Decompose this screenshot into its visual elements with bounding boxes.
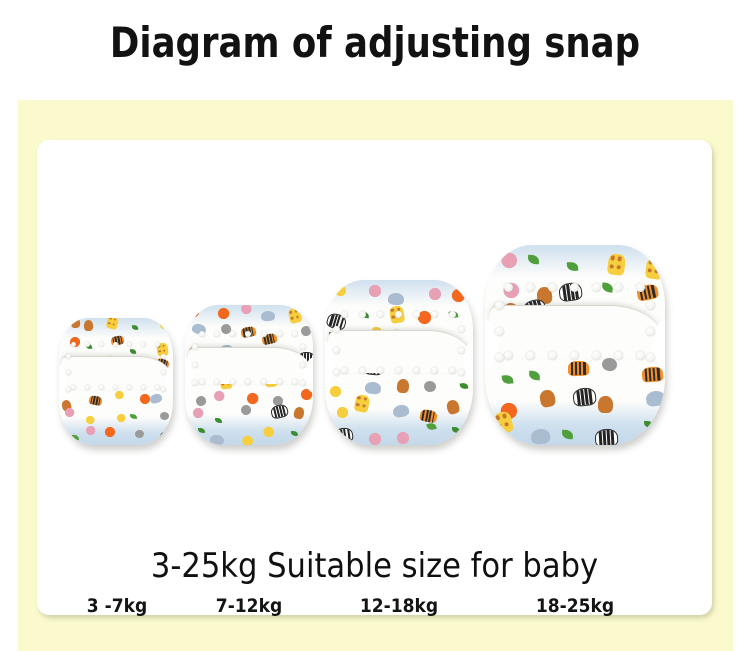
- snap-button-rise: [449, 367, 456, 374]
- product-size-s[interactable]: [185, 305, 313, 445]
- snap-button-side-right: [646, 301, 655, 310]
- snap-button-side-left: [66, 354, 71, 359]
- snap-button-side-left: [192, 380, 198, 386]
- snap-button-side-right: [646, 353, 655, 362]
- tiger-motif: [88, 395, 103, 407]
- snap-button-waist: [113, 342, 118, 347]
- snap-button-rise: [614, 351, 623, 360]
- snap-button-side-right: [300, 362, 306, 368]
- snap-button-waist: [359, 311, 366, 318]
- snap-button-side-left: [66, 387, 71, 392]
- snap-button-waist: [141, 342, 146, 347]
- print-bottom-band: [59, 417, 173, 445]
- snap-button-waist: [214, 331, 220, 337]
- snap-button-rise: [199, 379, 205, 385]
- diaper-illustration: [59, 318, 173, 445]
- tiger-motif: [568, 361, 589, 376]
- flower-motif: [369, 433, 381, 445]
- flower-motif: [139, 394, 151, 406]
- koala-motif: [601, 357, 617, 372]
- elephant-motif: [149, 393, 163, 405]
- snap-button-rise: [292, 379, 298, 385]
- snap-button-waist: [636, 283, 645, 292]
- monkey-motif: [598, 396, 613, 413]
- snap-button-rise: [359, 367, 366, 374]
- snap-button-waist: [526, 283, 535, 292]
- size-label-xs: 3 -7kg: [55, 595, 179, 617]
- snap-button-rise: [504, 351, 513, 360]
- leaf-motif: [601, 282, 613, 292]
- leaf-motif: [502, 374, 514, 384]
- snap-button-rise: [230, 379, 236, 385]
- size-label-s: 7-12kg: [183, 595, 315, 617]
- page-title: Diagram of adjusting snap: [23, 18, 728, 67]
- product-size-row: 3 -7kg 7-12kg 12-18kg 18-25kg 3-25kg Sui…: [37, 140, 712, 615]
- snap-button-rise: [413, 367, 420, 374]
- snap-button-waist: [155, 342, 160, 347]
- snap-button-rise: [548, 351, 557, 360]
- diaper-illustration: [325, 280, 473, 445]
- size-label-m: 12-18kg: [323, 595, 475, 617]
- snap-button-side-right: [300, 380, 306, 386]
- snap-button-rise: [341, 367, 348, 374]
- leaf-motif: [215, 418, 222, 423]
- snap-button-rise: [245, 379, 251, 385]
- snap-button-rise: [636, 351, 645, 360]
- snap-button-rise: [526, 351, 535, 360]
- snap-button-side-left: [495, 327, 504, 336]
- flower-motif: [502, 253, 517, 268]
- leaf-motif: [130, 348, 137, 353]
- monkey-motif: [396, 379, 409, 394]
- snap-button-waist: [277, 331, 283, 337]
- snap-button-waist: [395, 311, 402, 318]
- flower-motif: [242, 436, 253, 445]
- tiger-motif: [641, 367, 663, 383]
- snap-button-side-left: [333, 369, 340, 376]
- snap-button-waist: [614, 283, 623, 292]
- snap-button-waist: [548, 283, 557, 292]
- snap-button-waist: [431, 311, 438, 318]
- size-label-l: 18-25kg: [497, 595, 653, 617]
- flower-motif: [213, 390, 225, 402]
- zebra-motif: [573, 387, 598, 407]
- flower-motif: [264, 426, 274, 436]
- snap-button-side-left: [495, 301, 504, 310]
- elephant-motif: [365, 381, 382, 395]
- flower-motif: [114, 390, 125, 401]
- snap-button-side-right: [458, 369, 465, 376]
- leaf-motif: [460, 383, 469, 390]
- leaf-motif: [131, 324, 138, 329]
- elephant-motif: [645, 389, 665, 407]
- snap-button-waist: [99, 342, 104, 347]
- snap-button-waist: [292, 331, 298, 337]
- diaper-illustration: [485, 245, 665, 445]
- giraffe-motif: [645, 257, 665, 280]
- zebra-motif: [159, 430, 173, 443]
- monkey-motif: [84, 320, 93, 331]
- snap-button-waist: [570, 283, 579, 292]
- product-size-xs[interactable]: [59, 318, 173, 445]
- snap-button-waist: [377, 311, 384, 318]
- snap-button-rise: [377, 367, 384, 374]
- snap-button-waist: [592, 283, 601, 292]
- snap-button-waist: [199, 331, 205, 337]
- giraffe-motif: [607, 253, 626, 276]
- flower-motif: [329, 385, 342, 398]
- elephant-motif: [210, 435, 225, 445]
- monkey-motif: [71, 318, 81, 328]
- product-size-m[interactable]: [325, 280, 473, 445]
- snap-button-rise: [592, 351, 601, 360]
- flower-motif: [64, 407, 74, 417]
- giraffe-motif: [353, 394, 370, 413]
- koala-motif: [423, 380, 437, 393]
- snap-button-waist: [504, 283, 513, 292]
- snap-button-side-right: [458, 326, 465, 333]
- snap-button-rise: [431, 367, 438, 374]
- snap-button-side-right: [161, 354, 166, 359]
- snap-button-waist: [341, 311, 348, 318]
- leaf-motif: [451, 427, 459, 433]
- koala-motif: [300, 326, 312, 337]
- leaf-motif: [291, 431, 298, 436]
- zebra-motif: [595, 429, 619, 445]
- snap-button-side-right: [646, 327, 655, 336]
- suitable-size-caption: 3-25kg Suitable size for baby: [37, 546, 712, 586]
- monkey-motif: [538, 388, 556, 408]
- diaper-wing-right: [165, 365, 173, 398]
- elephant-motif: [530, 428, 551, 444]
- koala-motif: [195, 395, 207, 406]
- elephant-motif: [261, 311, 275, 322]
- snap-button-rise: [395, 367, 402, 374]
- snap-button-waist: [127, 342, 132, 347]
- elephant-motif: [388, 293, 404, 306]
- snap-button-side-right: [300, 344, 306, 350]
- product-size-l[interactable]: [485, 245, 665, 445]
- diaper-illustration: [185, 305, 313, 445]
- leaf-motif: [529, 371, 541, 380]
- snap-button-waist: [230, 331, 236, 337]
- snap-button-side-left: [66, 370, 71, 375]
- snap-button-rise: [570, 351, 579, 360]
- flower-motif: [246, 392, 259, 405]
- snap-button-rise: [277, 379, 283, 385]
- snap-button-side-left: [495, 353, 504, 362]
